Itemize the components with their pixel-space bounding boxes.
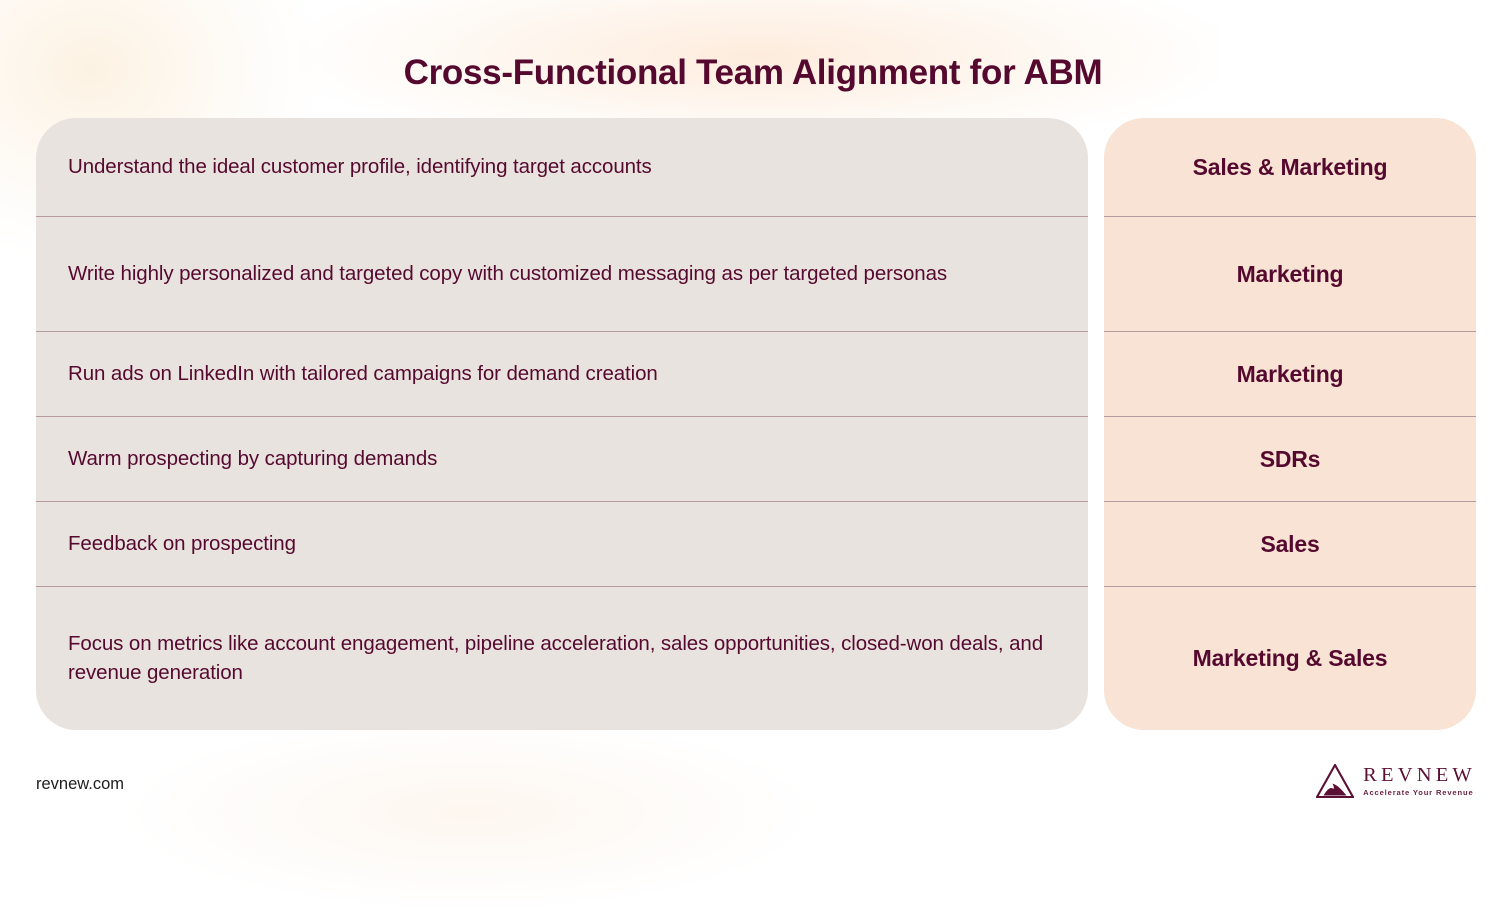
team-label: Sales & Marketing [1193,154,1388,181]
table-row: Marketing & Sales [1104,587,1476,730]
task-text: Feedback on prospecting [68,530,296,558]
task-text: Understand the ideal customer profile, i… [68,153,652,181]
logo-text-block: REVNEW Accelerate Your Revenue [1363,765,1476,796]
task-text: Write highly personalized and targeted c… [68,260,947,288]
table-row: Feedback on prospecting [36,502,1088,587]
table-row: Marketing [1104,332,1476,417]
team-label: Marketing [1237,261,1344,288]
table-row: Run ads on LinkedIn with tailored campai… [36,332,1088,417]
team-label: Marketing & Sales [1193,645,1388,672]
task-column: Understand the ideal customer profile, i… [36,118,1088,730]
task-text: Run ads on LinkedIn with tailored campai… [68,360,658,388]
table-row: Sales & Marketing [1104,118,1476,217]
slide-canvas: Cross-Functional Team Alignment for ABM … [0,0,1506,823]
table-row: Warm prospecting by capturing demands [36,417,1088,502]
table-row: Write highly personalized and targeted c… [36,217,1088,332]
footer-website-url: revnew.com [36,775,124,794]
table-row: SDRs [1104,417,1476,502]
team-label: SDRs [1260,446,1321,473]
table-row: Understand the ideal customer profile, i… [36,118,1088,217]
task-text: Warm prospecting by capturing demands [68,445,437,473]
alignment-table: Understand the ideal customer profile, i… [36,118,1476,730]
table-row: Sales [1104,502,1476,587]
team-column: Sales & Marketing Marketing Marketing SD… [1104,118,1476,730]
page-title: Cross-Functional Team Alignment for ABM [0,53,1506,93]
table-row: Focus on metrics like account engagement… [36,587,1088,730]
background-glow-bottom [120,713,820,913]
team-label: Sales [1260,531,1319,558]
logo-tagline: Accelerate Your Revenue [1363,789,1476,797]
logo-wordmark: REVNEW [1363,765,1476,786]
task-text: Focus on metrics like account engagement… [68,630,1056,687]
table-row: Marketing [1104,217,1476,332]
team-label: Marketing [1237,361,1344,388]
revnew-logo: REVNEW Accelerate Your Revenue [1316,764,1476,798]
triangle-wave-icon [1316,764,1354,798]
